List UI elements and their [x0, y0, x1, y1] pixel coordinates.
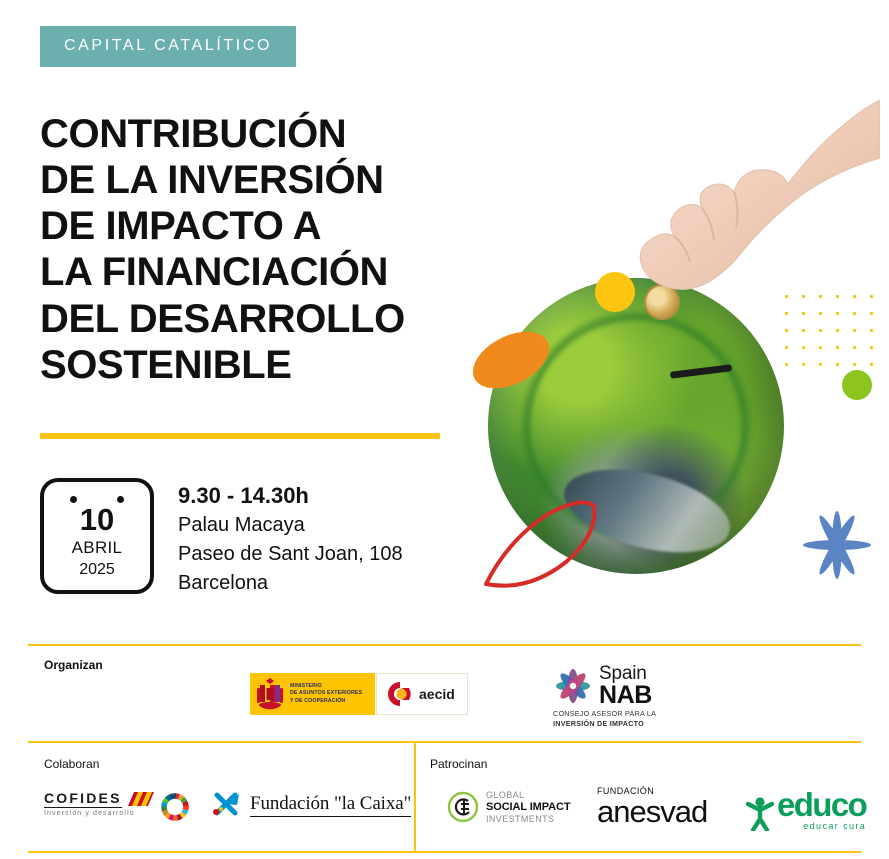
event-time: 9.30 - 14.30h: [178, 480, 403, 511]
cofides-label: COFIDES: [44, 790, 122, 808]
venue-block: 9.30 - 14.30h Palau Macaya Paseo de Sant…: [178, 478, 403, 598]
bottom-vertical-divider: [414, 741, 416, 851]
ministry-line-3: Y DE COOPERACIÓN: [290, 698, 362, 705]
event-details: 10 ABRIL 2025 9.30 - 14.30h Palau Macaya…: [40, 478, 403, 598]
logo-global-social-impact-investments: GLOBAL SOCIAL IMPACT INVESTMENTS: [447, 790, 570, 824]
green-circle-icon: [842, 370, 872, 400]
organizers-label: Organizan: [44, 658, 103, 672]
event-poster: CAPITAL CATALÍTICO CONTRIBUCIÓN DE LA IN…: [0, 0, 889, 859]
sdg-wheel-icon: [160, 792, 190, 822]
hand-inserting-coin-icon: [630, 100, 880, 312]
logo-educo: educo educar cura: [745, 790, 866, 831]
calendar-hole-right: [117, 496, 124, 503]
cofides-flag-icon: [128, 792, 154, 806]
headline-line-2: DE LA INVERSIÓN: [40, 157, 510, 203]
blue-star-icon: [800, 508, 874, 582]
nab-word-nab: NAB: [599, 683, 652, 708]
headline-line-1: CONTRIBUCIÓN: [40, 111, 510, 157]
venue-city: Barcelona: [178, 569, 403, 598]
sponsors-label: Patrocinan: [430, 757, 487, 771]
logo-fundacion-anesvad: FUNDACIÓN anesvad: [597, 786, 707, 829]
event-year: 2025: [79, 560, 115, 580]
event-month: ABRIL: [72, 537, 123, 559]
nab-tagline-line-1: CONSEJO ASESOR PARA LA: [553, 709, 656, 719]
gsi-line-2: SOCIAL IMPACT: [486, 801, 570, 814]
ministry-line-2: DE ASUNTOS EXTERIORES: [290, 690, 362, 697]
educo-person-icon: [745, 795, 775, 831]
venue-name: Palau Macaya: [178, 511, 403, 540]
nab-tagline: CONSEJO ASESOR PARA LA INVERSIÓN DE IMPA…: [553, 709, 656, 728]
educo-line-1: educo: [777, 790, 866, 820]
event-day: 10: [80, 504, 114, 535]
bottom-divider-end: [28, 851, 861, 853]
river-detail: [556, 455, 739, 568]
aecid-label: aecid: [419, 686, 455, 702]
headline-divider: [40, 433, 440, 439]
logo-ministerio-asuntos-exteriores: MINISTERIO DE ASUNTOS EXTERIORES Y DE CO…: [250, 673, 375, 715]
logo-spain-nab: Spain NAB: [553, 664, 652, 708]
ministry-line-1: MINISTERIO: [290, 683, 362, 690]
bottom-divider-top: [28, 741, 861, 743]
headline-line-5: DEL DESARROLLO: [40, 296, 510, 342]
la-caixa-star-icon: [213, 792, 241, 818]
spain-nab-flower-icon: [553, 666, 593, 706]
organizers-divider-top: [28, 644, 861, 646]
anesvad-line-2: anesvad: [597, 796, 707, 829]
la-caixa-label: Fundación "la Caixa": [250, 793, 411, 817]
calendar-icon: 10 ABRIL 2025: [40, 478, 154, 594]
headline-line-4: LA FINANCIACIÓN: [40, 249, 510, 295]
nab-tagline-line-2: INVERSIÓN DE IMPACTO: [553, 719, 656, 729]
page-title: CONTRIBUCIÓN DE LA INVERSIÓN DE IMPACTO …: [40, 111, 510, 388]
venue-address: Paseo de Sant Joan, 108: [178, 540, 403, 569]
coin-slot-icon: [670, 364, 732, 379]
calendar-hole-left: [70, 496, 77, 503]
logo-cofides: COFIDES Inversión y desarrollo: [44, 790, 154, 817]
capital-catalitico-badge: CAPITAL CATALÍTICO: [40, 26, 296, 67]
collaborators-label: Colaboran: [44, 757, 99, 771]
aecid-c-icon: [387, 681, 413, 707]
ministry-name: MINISTERIO DE ASUNTOS EXTERIORES Y DE CO…: [290, 683, 362, 704]
headline-line-3: DE IMPACTO A: [40, 203, 510, 249]
logo-fundacion-la-caixa: Fundación "la Caixa": [213, 792, 411, 818]
gsi-monogram-icon: [447, 791, 479, 823]
gsi-line-1: GLOBAL: [486, 790, 570, 801]
headline-line-6: SOSTENIBLE: [40, 342, 510, 388]
logo-aecid: aecid: [376, 673, 468, 715]
gsi-line-3: INVESTMENTS: [486, 814, 570, 825]
spain-coat-of-arms-icon: [255, 676, 285, 712]
cofides-tagline: Inversión y desarrollo: [44, 810, 154, 817]
globe-piggy-bank-image: [470, 250, 800, 615]
green-earth-icon: [488, 278, 784, 574]
